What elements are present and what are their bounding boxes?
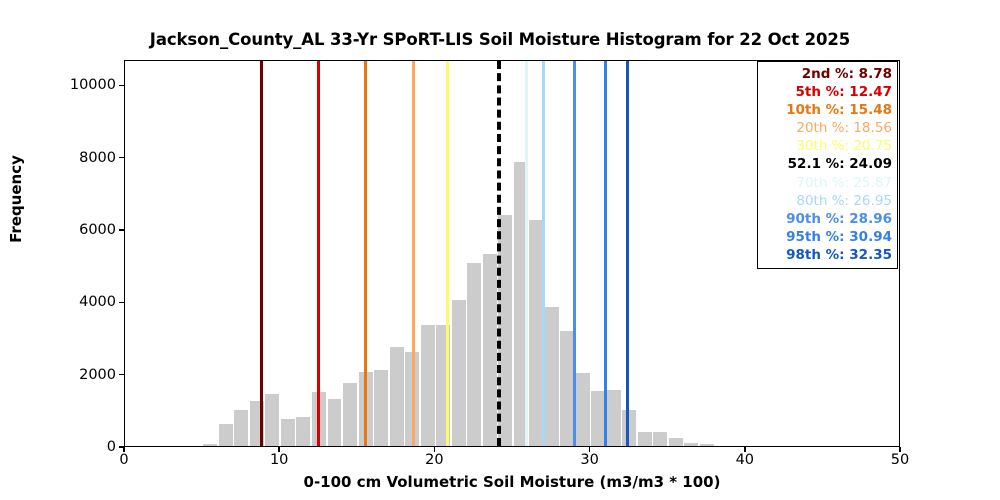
histogram-bar (669, 438, 683, 446)
x-tick-mark (744, 447, 746, 452)
histogram-bar (281, 419, 295, 446)
x-tick-mark (899, 447, 901, 452)
histogram-bar (545, 307, 559, 446)
legend-entry: 70th %: 25.87 (763, 174, 892, 192)
x-tick-mark (123, 447, 125, 452)
y-axis-label: Frequency (7, 99, 25, 299)
percentile-line-521 (497, 61, 505, 446)
x-tick-label: 10 (249, 452, 309, 468)
y-tick-label: 2000 (46, 367, 116, 383)
percentile-line-5th (317, 61, 320, 446)
histogram-bar (622, 410, 636, 446)
histogram-bar (328, 399, 342, 446)
x-tick-mark (589, 447, 591, 452)
histogram-bar (234, 410, 248, 446)
histogram-bar (638, 432, 652, 446)
percentile-line-70th (525, 61, 528, 446)
percentile-line-90th (573, 61, 576, 446)
histogram-bar (467, 263, 481, 446)
histogram-figure: Jackson_County_AL 33-Yr SPoRT-LIS Soil M… (0, 0, 1000, 500)
histogram-bar (700, 444, 714, 446)
histogram-bar (374, 370, 388, 446)
x-tick-mark (434, 447, 436, 452)
x-tick-mark (278, 447, 280, 452)
percentile-line-20th (412, 61, 415, 446)
percentile-line-2nd (260, 61, 263, 446)
y-tick-label: 4000 (46, 294, 116, 310)
histogram-bar (390, 347, 404, 446)
y-tick-label: 6000 (46, 222, 116, 238)
percentile-line-10th (364, 61, 367, 446)
percentile-legend: 2nd %: 8.785th %: 12.4710th %: 15.4820th… (757, 61, 898, 269)
x-tick-label: 0 (94, 452, 154, 468)
histogram-bar (653, 432, 667, 446)
histogram-bar (483, 254, 497, 446)
x-tick-label: 50 (870, 452, 930, 468)
legend-entry: 30th %: 20.75 (763, 137, 892, 155)
y-tick-label: 8000 (46, 150, 116, 166)
legend-entry: 90th %: 28.96 (763, 210, 892, 228)
histogram-bar (296, 417, 310, 446)
y-tick-label: 10000 (46, 77, 116, 93)
x-tick-label: 20 (404, 452, 464, 468)
histogram-bar (343, 383, 357, 446)
histogram-bar (607, 390, 621, 446)
legend-entry: 20th %: 18.56 (763, 119, 892, 137)
percentile-line-30th (446, 61, 449, 446)
legend-entry: 80th %: 26.95 (763, 192, 892, 210)
x-axis-label: 0-100 cm Volumetric Soil Moisture (m3/m3… (124, 473, 900, 491)
legend-entry: 10th %: 15.48 (763, 101, 892, 119)
legend-entry: 98th %: 32.35 (763, 246, 892, 264)
x-tick-label: 30 (560, 452, 620, 468)
histogram-bar (421, 325, 435, 446)
histogram-bar (203, 444, 217, 446)
percentile-line-80th (542, 61, 545, 446)
page-title: Jackson_County_AL 33-Yr SPoRT-LIS Soil M… (0, 30, 1000, 49)
legend-entry: 5th %: 12.47 (763, 83, 892, 101)
legend-entry: 95th %: 30.94 (763, 228, 892, 246)
histogram-bar (452, 300, 466, 446)
histogram-bar (576, 373, 590, 446)
x-tick-label: 40 (715, 452, 775, 468)
histogram-bar (265, 394, 279, 446)
histogram-bar (219, 424, 233, 446)
legend-entry: 52.1 %: 24.09 (763, 155, 892, 173)
histogram-bar (684, 443, 698, 446)
percentile-line-98th (626, 61, 629, 446)
percentile-line-95th (604, 61, 607, 446)
legend-entry: 2nd %: 8.78 (763, 65, 892, 83)
